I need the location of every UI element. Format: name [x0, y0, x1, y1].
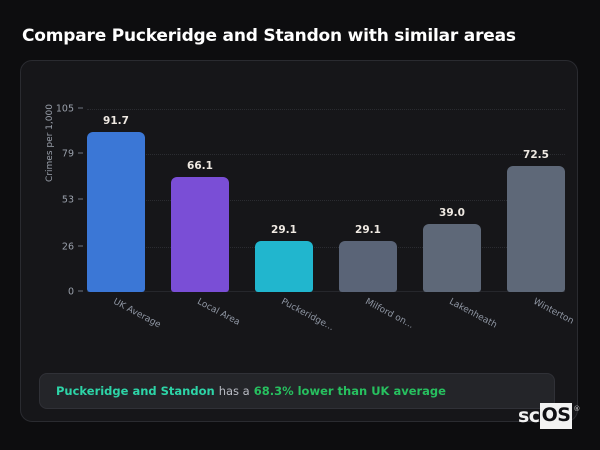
bar-value-label: 39.0 [439, 207, 465, 219]
y-axis-tick-label: 79 [62, 149, 87, 160]
summary-statistic: 68.3% lower than UK average [254, 384, 446, 398]
x-axis-category-label: Winterton [531, 297, 575, 327]
x-axis-category-label: Puckeridge... [279, 297, 335, 333]
x-axis-category-label: UK Average [111, 297, 162, 330]
y-axis-tick-label: 105 [56, 104, 87, 115]
summary-area-name: Puckeridge and Standon [56, 384, 215, 398]
bar-value-label: 29.1 [355, 224, 381, 236]
summary-banner: Puckeridge and Standon has a 68.3% lower… [39, 373, 555, 409]
registered-trademark-icon: ® [573, 405, 580, 413]
y-axis-tick-label: 53 [62, 194, 87, 205]
bar[interactable]: 39.0Lakenheath [423, 224, 481, 292]
bar[interactable]: 29.1Milford on... [339, 241, 397, 292]
summary-middle-text: has a [219, 384, 250, 398]
bar[interactable]: 29.1Puckeridge... [255, 241, 313, 292]
bar-slot: 29.1Milford on... [339, 109, 397, 292]
bar-series: 91.7UK Average66.1Local Area29.1Puckerid… [87, 109, 565, 292]
page-title: Compare Puckeridge and Standon with simi… [22, 26, 516, 46]
bar-slot: 39.0Lakenheath [423, 109, 481, 292]
bar[interactable]: 66.1Local Area [171, 177, 229, 292]
bar[interactable]: 72.5Winterton [507, 166, 565, 292]
chart-card: Crimes per 1,000 0265379105 91.7UK Avera… [20, 60, 578, 422]
bar-value-label: 66.1 [187, 160, 213, 172]
y-axis-title: Crimes per 1,000 [45, 83, 55, 203]
bar-slot: 72.5Winterton [507, 109, 565, 292]
scos-logo: sc OS ® [518, 404, 580, 428]
bar[interactable]: 91.7UK Average [87, 132, 145, 292]
x-axis-category-label: Milford on... [363, 297, 415, 331]
bar-slot: 66.1Local Area [171, 109, 229, 292]
bar-value-label: 91.7 [103, 115, 129, 127]
logo-text-sc: sc [518, 407, 540, 426]
bar-slot: 29.1Puckeridge... [255, 109, 313, 292]
y-axis-tick-label: 0 [68, 287, 87, 298]
bar-slot: 91.7UK Average [87, 109, 145, 292]
y-axis-tick-label: 26 [62, 241, 87, 252]
x-axis-category-label: Local Area [195, 297, 241, 328]
x-axis-category-label: Lakenheath [447, 297, 498, 331]
bar-value-label: 72.5 [523, 149, 549, 161]
plot-area: 0265379105 91.7UK Average66.1Local Area2… [87, 109, 565, 292]
bar-chart: Crimes per 1,000 0265379105 91.7UK Avera… [21, 61, 579, 361]
logo-text-os: OS [540, 403, 573, 429]
bar-value-label: 29.1 [271, 224, 297, 236]
